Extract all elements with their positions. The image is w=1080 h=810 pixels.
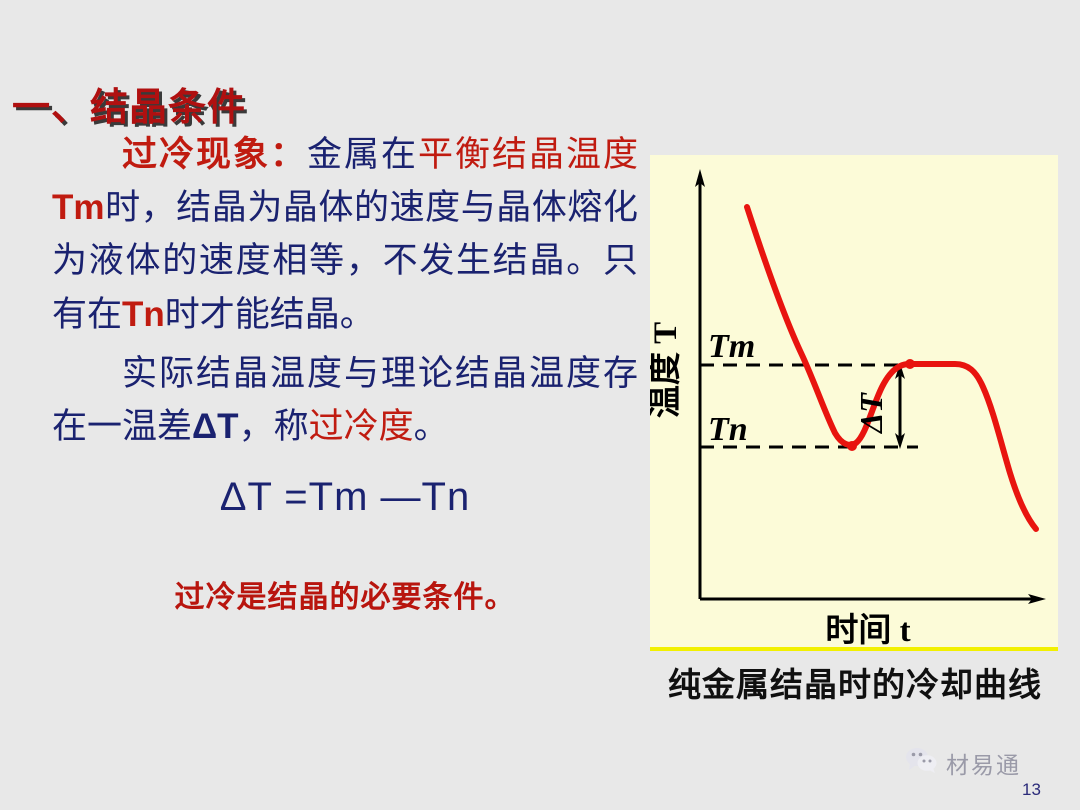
- paragraph2-navy-2: ，称: [239, 407, 309, 446]
- wechat-icon: [905, 747, 939, 779]
- paragraph1-navy-1: 金属在: [307, 135, 418, 174]
- formula-delta-t: ΔT =Tm —Tn: [52, 475, 638, 520]
- page-title: 一、结晶条件: [12, 76, 246, 131]
- x-axis-label: 时间 t: [825, 612, 910, 649]
- paragraph2-red-1: 过冷度: [309, 407, 414, 446]
- watermark-text: 材易通: [946, 746, 1021, 780]
- delta-t-label: ΔT: [853, 392, 889, 435]
- paragraph2-symbol-delta-t: ΔT: [192, 407, 239, 446]
- tm-axis-label: Tm: [708, 328, 755, 365]
- paragraph1-symbol-tm: Tm: [52, 188, 105, 227]
- cooling-curve-chart: Tm Tn ΔT 温度 T 时间 t: [650, 155, 1058, 651]
- paragraph-supercooling-definition: 过冷现象：金属在平衡结晶温度Tm时，结晶为晶体的速度与晶体熔化为液体的速度相等，…: [52, 128, 638, 341]
- conclusion-statement: 过冷是结晶的必要条件。: [52, 572, 638, 616]
- page-number: 13: [1022, 780, 1041, 800]
- cooling-curve-path: [747, 207, 1036, 529]
- paragraph1-lead: 过冷现象：: [122, 135, 307, 174]
- paragraph1-red-2: 结晶温度: [492, 135, 638, 174]
- paragraph1-red-1: 平衡: [418, 135, 492, 174]
- watermark: 材易通: [905, 746, 1021, 780]
- paragraph1-navy-3: 时才能结晶。: [165, 295, 375, 334]
- undercooling-minimum-marker: [847, 441, 857, 451]
- y-axis-label: 温度 T: [650, 322, 684, 418]
- figure-caption: 纯金属结晶时的冷却曲线: [650, 658, 1060, 706]
- text-content-column: 过冷现象：金属在平衡结晶温度Tm时，结晶为晶体的速度与晶体熔化为液体的速度相等，…: [52, 128, 638, 616]
- tn-axis-label: Tn: [708, 411, 748, 448]
- cooling-curve-figure-panel: Tm Tn ΔT 温度 T 时间 t: [650, 155, 1058, 651]
- paragraph2-navy-3: 。: [414, 407, 449, 446]
- paragraph-undercooling-degree: 实际结晶温度与理论结晶温度存在一温差ΔT，称过冷度。: [52, 347, 638, 453]
- paragraph1-symbol-tn: Tn: [122, 295, 165, 334]
- recalescence-point-marker: [905, 359, 915, 369]
